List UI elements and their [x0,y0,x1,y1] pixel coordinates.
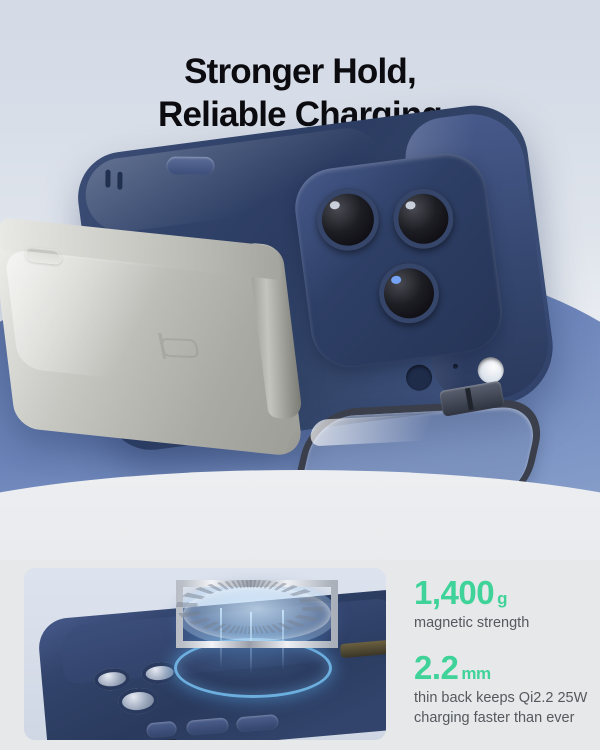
inset-camera-lens-3 [117,686,159,715]
stat-thickness: 2.2mm thin back keeps Qi2.2 25W charging… [414,651,590,728]
feature-section: 1,400g magnetic strength 2.2mm thin back… [0,560,600,750]
stats-list: 1,400g magnetic strength 2.2mm thin back… [414,576,590,746]
speaker-slits-icon [105,170,110,188]
hero-bottom-arc [0,470,600,560]
stat-description: thin back keeps Qi2.2 25W charging faste… [414,689,590,728]
inset-button-3 [236,714,279,733]
phone-side-button [166,157,214,175]
inset-button-1 [146,721,177,739]
inset-button-2 [186,717,229,736]
headline-line-1: Stronger Hold, [184,52,416,91]
magnet-ring-segments [176,580,324,634]
silver-power-bank [0,211,322,496]
power-bank-gloss [4,249,223,390]
inset-photo [24,568,386,740]
stat-value: 2.2 [414,649,458,686]
stat-unit: g [497,589,507,608]
stat-value-row: 1,400g [414,576,590,611]
stat-description: magnetic strength [414,614,590,634]
camera-plate [290,149,506,372]
hero-section: Stronger Hold, Reliable Charging [0,0,600,560]
brand-logo [155,333,202,361]
stat-magnetic-strength: 1,400g magnetic strength [414,576,590,633]
stat-unit: mm [461,664,490,683]
stat-value: 1,400 [414,574,494,611]
stat-value-row: 2.2mm [414,651,590,686]
inset-bottom-bar [82,739,178,740]
product-marketing-page: Stronger Hold, Reliable Charging [0,0,600,750]
